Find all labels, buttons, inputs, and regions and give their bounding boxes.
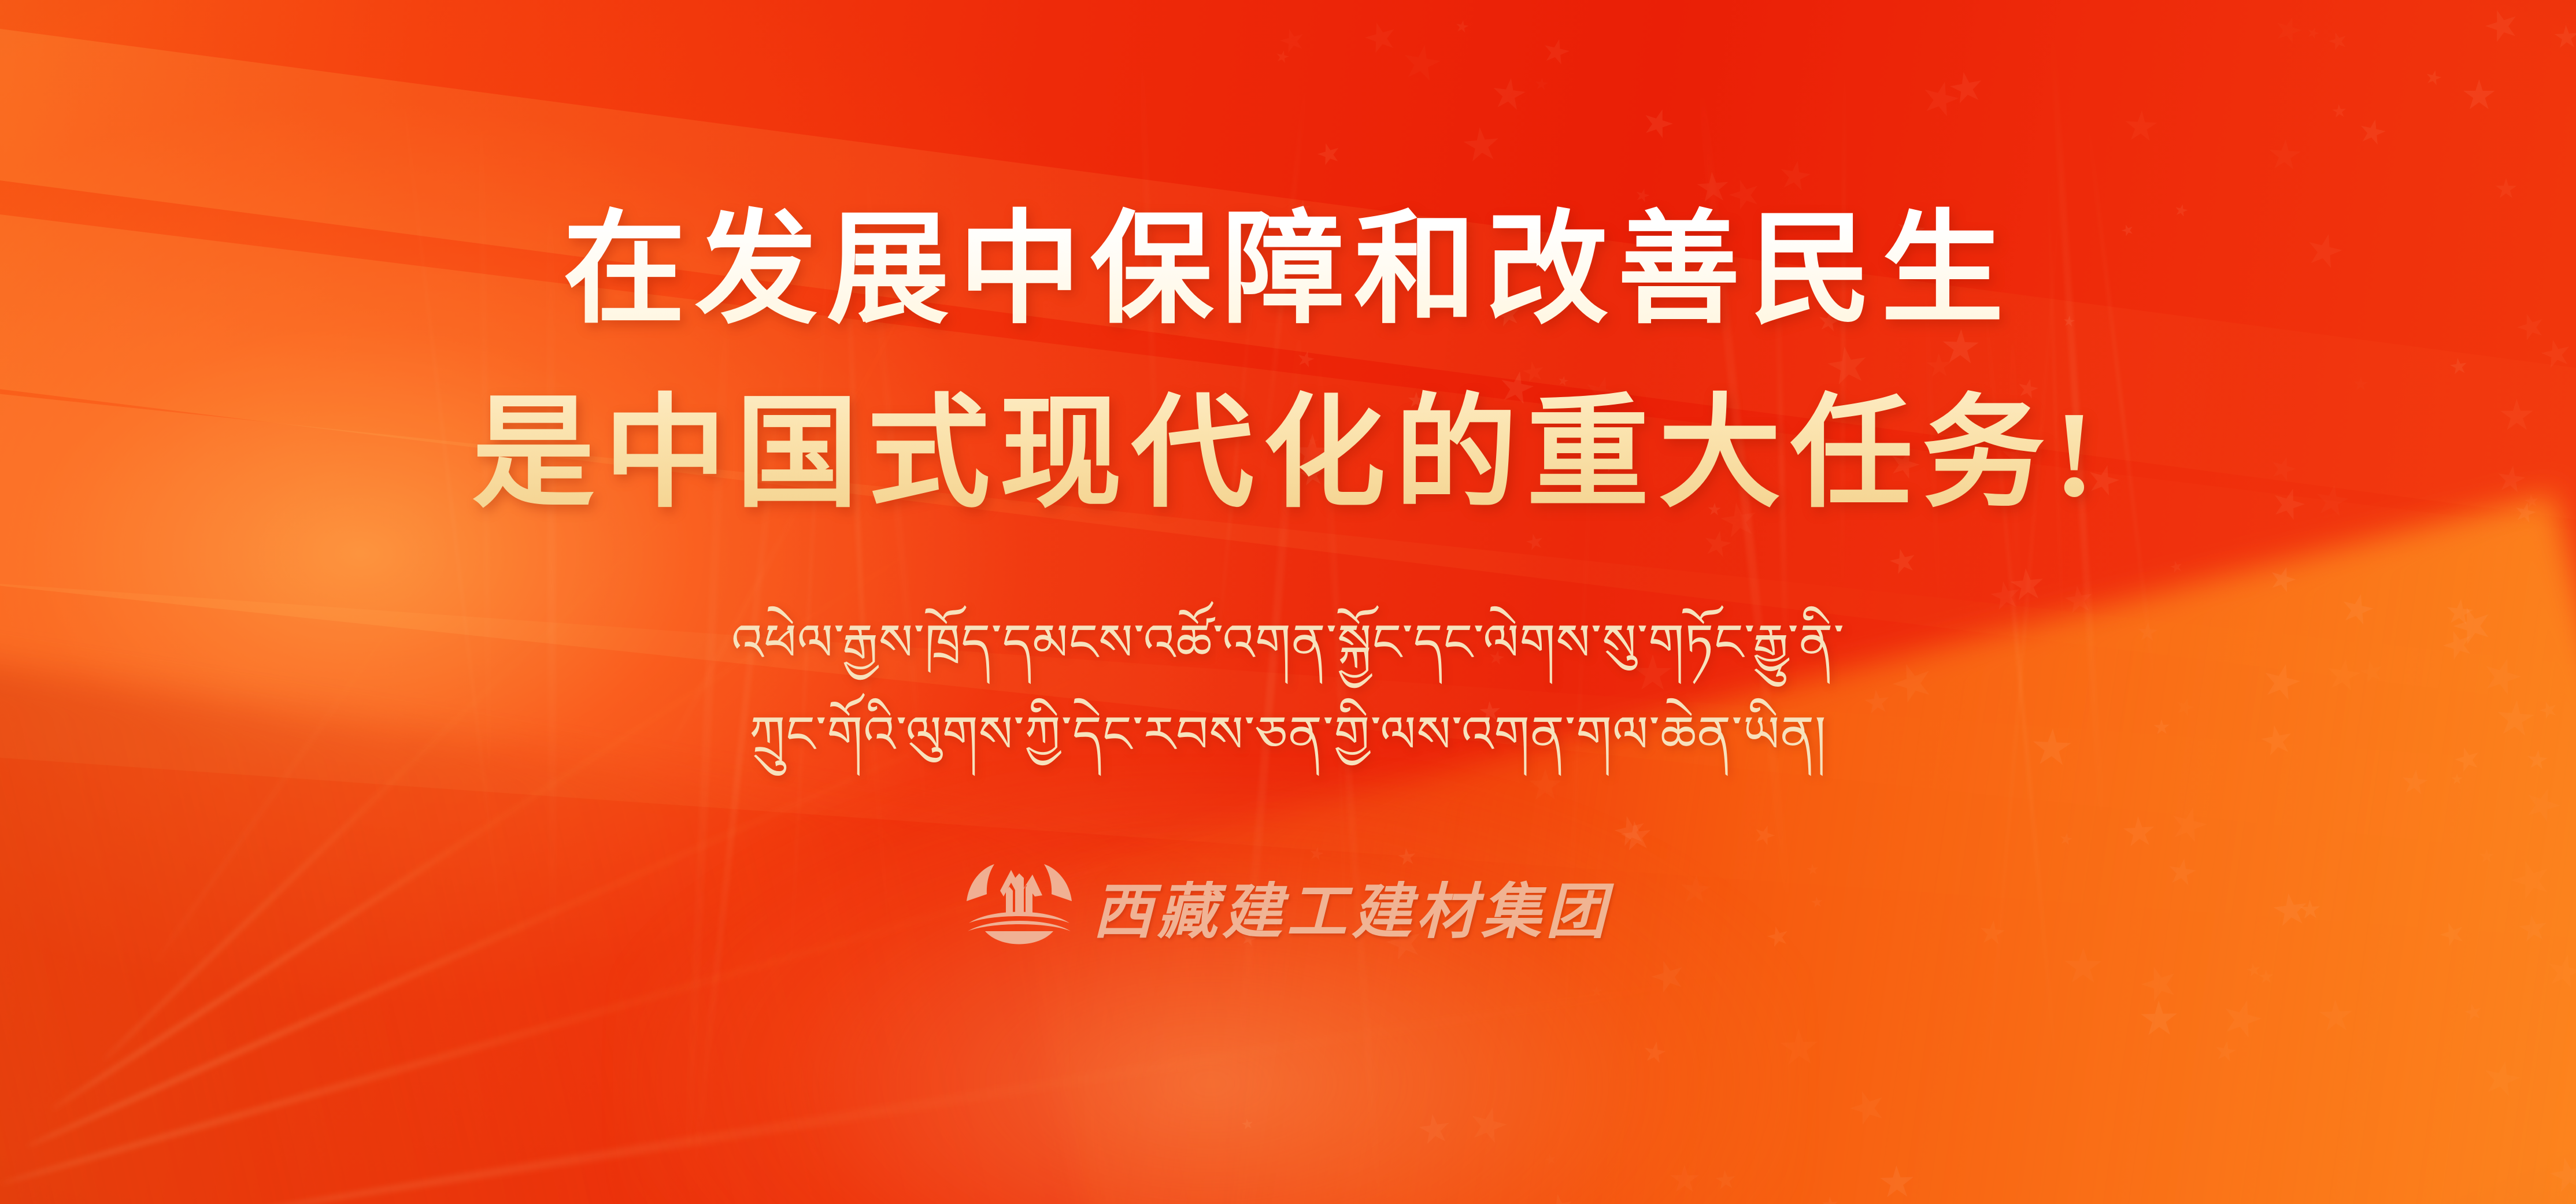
headline-block: 在发展中保障和改善民生 是中国式现代化的重大任务! bbox=[472, 0, 2104, 534]
logo-wordmark: 西藏建工建材集团 bbox=[1093, 862, 1611, 950]
banner-content: 在发展中保障和改善民生 是中国式现代化的重大任务! འཕེལ་རྒྱས་ཁྲོད… bbox=[0, 0, 2576, 1204]
headline-line-2: 是中国式现代化的重大任务! bbox=[472, 375, 2104, 534]
tibetan-subtitle-block: འཕེལ་རྒྱས་ཁྲོད་དམངས་འཚོ་འགན་སྐྱོང་དང་ལེག… bbox=[731, 534, 1845, 776]
headline-line-1: 在发展中保障和改善民生 bbox=[472, 191, 2104, 350]
propaganda-banner: 在发展中保障和改善民生 是中国式现代化的重大任务! འཕེལ་རྒྱས་ཁྲོད… bbox=[0, 0, 2576, 1204]
tibetan-line-1: འཕེལ་རྒྱས་ཁྲོད་དམངས་འཚོ་འགན་སྐྱོང་དང་ལེག… bbox=[731, 602, 1845, 684]
mountain-building-emblem-icon bbox=[965, 863, 1073, 950]
tibetan-line-2: ཀྲུང་གོའི་ལུགས་ཀྱི་དེང་རབས་ཅན་གྱི་ལས་འགན… bbox=[731, 694, 1845, 776]
company-logo: 西藏建工建材集团 bbox=[965, 862, 1611, 950]
